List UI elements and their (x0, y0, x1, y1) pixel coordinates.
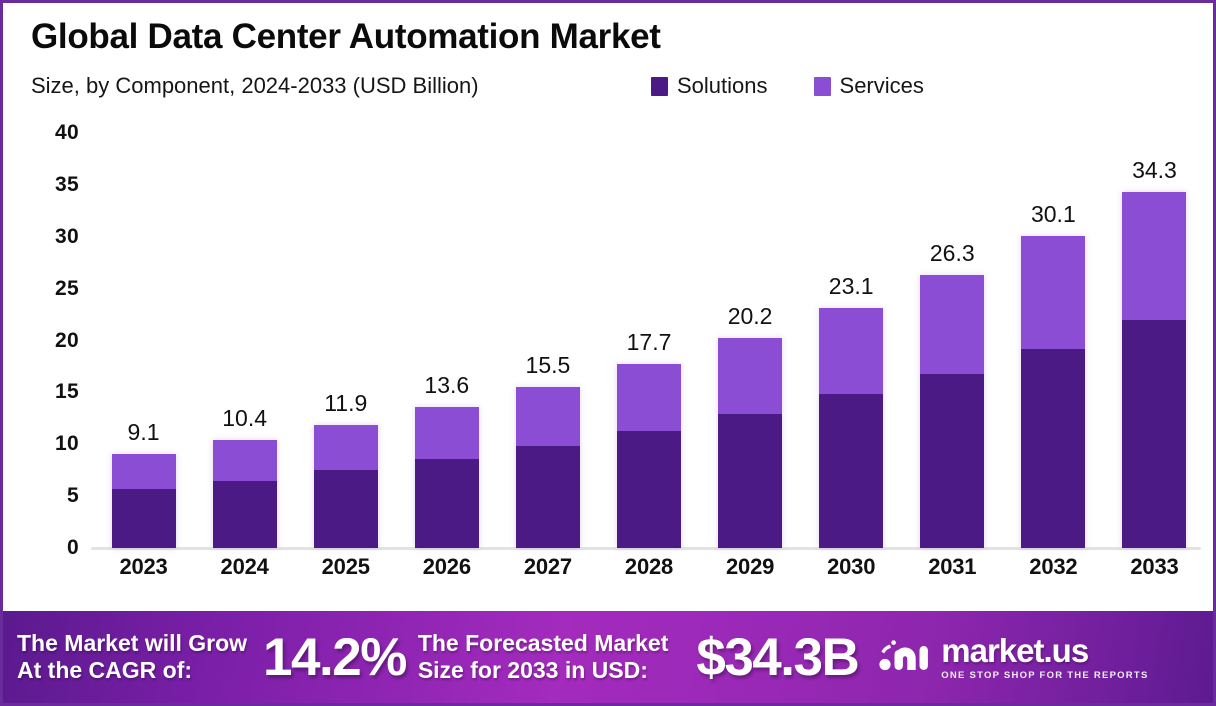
brand-tagline: ONE STOP SHOP FOR THE REPORTS (941, 670, 1148, 681)
y-axis-tick-15: 15 (55, 380, 79, 404)
bar-group-2033[interactable]: 34.3 (1122, 192, 1186, 548)
bar-segment-solutions[interactable] (314, 470, 378, 548)
stacked-bar[interactable] (213, 440, 277, 548)
bar-group-2028[interactable]: 17.7 (617, 364, 681, 548)
bar-segment-services[interactable] (718, 338, 782, 414)
x-axis-tick-2025: 2025 (314, 554, 378, 580)
x-axis-tick-2028: 2028 (617, 554, 681, 580)
bar-value-label-2033: 34.3 (1132, 157, 1177, 184)
market-us-logo-icon (878, 637, 932, 677)
bar-segment-solutions[interactable] (516, 446, 580, 548)
x-axis-tick-2024: 2024 (213, 554, 277, 580)
bar-series-container: 9.110.411.913.615.517.720.223.126.330.13… (93, 111, 1205, 548)
bar-group-2029[interactable]: 20.2 (718, 338, 782, 548)
bar-segment-services[interactable] (415, 407, 479, 459)
y-axis-tick-40: 40 (55, 121, 79, 145)
legend-label: Solutions (677, 73, 768, 99)
y-axis-tick-20: 20 (55, 329, 79, 353)
bar-value-label-2026: 13.6 (424, 372, 469, 399)
stacked-bar[interactable] (1021, 236, 1085, 548)
x-axis-tick-2032: 2032 (1021, 554, 1085, 580)
summary-banner: The Market will Grow At the CAGR of: 14.… (3, 611, 1213, 703)
bar-group-2024[interactable]: 10.4 (213, 440, 277, 548)
bar-group-2025[interactable]: 11.9 (314, 425, 378, 548)
chart-subtitle: Size, by Component, 2024-2033 (USD Billi… (31, 73, 479, 99)
bar-group-2027[interactable]: 15.5 (516, 387, 580, 548)
x-axis-tick-2023: 2023 (112, 554, 176, 580)
forecast-label: The Forecasted Market Size for 2033 in U… (418, 630, 669, 683)
bar-segment-services[interactable] (1122, 192, 1186, 320)
bar-value-label-2031: 26.3 (930, 240, 975, 267)
brand-text: market.us ONE STOP SHOP FOR THE REPORTS (941, 634, 1148, 681)
forecast-label-line2: Size for 2033 in USD: (418, 657, 669, 684)
page-title: Global Data Center Automation Market (31, 17, 661, 57)
stacked-bar[interactable] (920, 275, 984, 548)
x-axis-tick-2030: 2030 (819, 554, 883, 580)
x-axis-tick-2029: 2029 (718, 554, 782, 580)
chart-header: Global Data Center Automation Market Siz… (3, 3, 1213, 111)
cagr-label-line1: The Market will Grow (17, 630, 247, 657)
forecast-label-line1: The Forecasted Market (418, 630, 669, 657)
y-axis-tick-5: 5 (67, 484, 79, 508)
bar-segment-solutions[interactable] (1122, 320, 1186, 548)
stacked-bar[interactable] (819, 308, 883, 548)
plot-area: 0510152025303540 9.110.411.913.615.517.7… (3, 111, 1213, 611)
stacked-bar[interactable] (112, 454, 176, 548)
bar-segment-solutions[interactable] (213, 481, 277, 548)
bar-value-label-2027: 15.5 (526, 352, 571, 379)
square-swatch-icon (814, 77, 831, 96)
bar-segment-services[interactable] (617, 364, 681, 430)
y-axis-tick-0: 0 (67, 536, 79, 560)
bar-segment-services[interactable] (213, 440, 277, 480)
y-axis-tick-35: 35 (55, 173, 79, 197)
bar-value-label-2032: 30.1 (1031, 201, 1076, 228)
bar-value-label-2029: 20.2 (728, 303, 773, 330)
bar-value-label-2028: 17.7 (627, 329, 672, 356)
bar-segment-solutions[interactable] (415, 459, 479, 548)
cagr-label-line2: At the CAGR of: (17, 657, 247, 684)
bar-segment-solutions[interactable] (920, 374, 984, 548)
bar-segment-services[interactable] (516, 387, 580, 446)
bar-group-2032[interactable]: 30.1 (1021, 236, 1085, 548)
bar-segment-services[interactable] (819, 308, 883, 394)
y-axis-tick-30: 30 (55, 225, 79, 249)
bar-segment-solutions[interactable] (617, 431, 681, 548)
bar-segment-services[interactable] (1021, 236, 1085, 349)
bar-group-2030[interactable]: 23.1 (819, 308, 883, 548)
x-axis-tick-2027: 2027 (516, 554, 580, 580)
y-axis-tick-10: 10 (55, 432, 79, 456)
bar-segment-solutions[interactable] (819, 394, 883, 548)
stacked-bar[interactable] (516, 387, 580, 548)
y-axis: 0510152025303540 (3, 111, 91, 611)
legend-label: Services (840, 73, 924, 99)
y-axis-tick-25: 25 (55, 277, 79, 301)
bar-segment-services[interactable] (920, 275, 984, 374)
legend-item-solutions: Solutions (651, 73, 768, 99)
brand-logo: market.us ONE STOP SHOP FOR THE REPORTS (878, 634, 1148, 681)
bar-group-2026[interactable]: 13.6 (415, 407, 479, 548)
bar-segment-solutions[interactable] (112, 489, 176, 548)
x-axis: 2023202420252026202720282029203020312032… (93, 554, 1205, 594)
bar-value-label-2030: 23.1 (829, 273, 874, 300)
chart-infographic: Global Data Center Automation Market Siz… (0, 0, 1216, 706)
bar-segment-solutions[interactable] (1021, 349, 1085, 548)
bar-value-label-2024: 10.4 (222, 405, 267, 432)
cagr-label: The Market will Grow At the CAGR of: (17, 630, 247, 683)
stacked-bar[interactable] (718, 338, 782, 548)
x-axis-tick-2026: 2026 (415, 554, 479, 580)
bar-value-label-2025: 11.9 (324, 390, 367, 417)
bar-group-2023[interactable]: 9.1 (112, 454, 176, 548)
chart-legend: SolutionsServices (651, 73, 924, 99)
bar-segment-services[interactable] (112, 454, 176, 489)
x-axis-tick-2031: 2031 (920, 554, 984, 580)
bar-value-label-2023: 9.1 (128, 419, 160, 446)
stacked-bar[interactable] (1122, 192, 1186, 548)
stacked-bar[interactable] (415, 407, 479, 548)
bar-group-2031[interactable]: 26.3 (920, 275, 984, 548)
forecast-value: $34.3B (696, 627, 858, 688)
legend-item-services: Services (814, 73, 924, 99)
stacked-bar[interactable] (617, 364, 681, 548)
brand-name: market.us (941, 634, 1148, 667)
cagr-value: 14.2% (263, 627, 406, 688)
square-swatch-icon (651, 77, 668, 96)
bar-segment-services[interactable] (314, 425, 378, 471)
bar-segment-solutions[interactable] (718, 414, 782, 548)
x-axis-tick-2033: 2033 (1122, 554, 1186, 580)
stacked-bar[interactable] (314, 425, 378, 548)
